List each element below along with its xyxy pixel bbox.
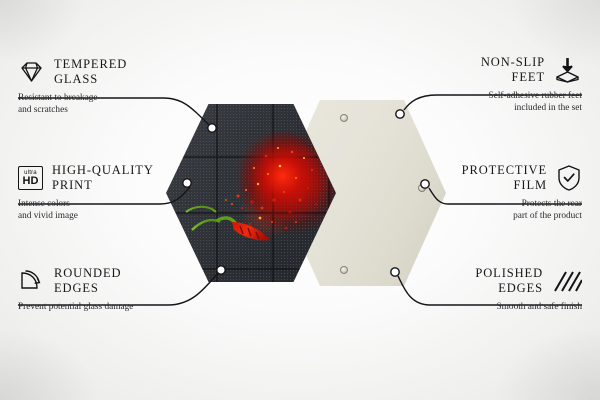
feature-rounded-edges: ROUNDED EDGES Prevent potential glass da…	[18, 266, 188, 314]
feature-description: Resistant to breakage and scratches	[18, 93, 168, 116]
feature-title: HIGH-QUALITY PRINT	[52, 163, 154, 193]
connector-dot-rounded-edges	[217, 266, 225, 274]
ultra-hd-icon: ultra HD	[18, 166, 43, 190]
feature-description: Intense colors and vivid image	[18, 199, 168, 222]
feature-title: ROUNDED EDGES	[54, 266, 121, 296]
press-foot-icon	[554, 56, 582, 84]
feature-title: PROTECTIVE FILM	[462, 163, 547, 193]
connector-dot-high-quality-print	[183, 179, 191, 187]
shield-check-icon	[556, 164, 582, 192]
feature-high-quality-print: ultra HD HIGH-QUALITY PRINT Intense colo…	[18, 163, 168, 222]
connector-dot-protective-film	[421, 180, 429, 188]
feature-description: Smooth and safe finish	[412, 302, 582, 314]
feature-protective-film: PROTECTIVE FILM Protects the rear part o…	[432, 163, 582, 222]
connector-dot-polished-edges	[391, 268, 399, 276]
rounded-corner-icon	[18, 268, 45, 294]
feature-title: POLISHED EDGES	[475, 266, 543, 296]
diagonal-stripes-icon	[552, 268, 582, 294]
connector-dot-tempered-glass	[208, 124, 216, 132]
infographic-canvas: TEMPERED GLASS Resistant to breakage and…	[0, 0, 600, 400]
feature-title: NON-SLIP FEET	[481, 55, 545, 85]
feature-non-slip-feet: NON-SLIP FEET Self-adhesive rubber feet …	[432, 55, 582, 114]
feature-polished-edges: POLISHED EDGES Smooth and safe finish	[412, 266, 582, 314]
feature-description: Prevent potential glass damage	[18, 302, 188, 314]
connector-dot-non-slip-feet	[396, 110, 404, 118]
feature-tempered-glass: TEMPERED GLASS Resistant to breakage and…	[18, 57, 168, 116]
diamond-icon	[18, 60, 45, 84]
feature-title: TEMPERED GLASS	[54, 57, 127, 87]
feature-description: Self-adhesive rubber feet included in th…	[432, 91, 582, 114]
feature-description: Protects the rear part of the product	[432, 199, 582, 222]
